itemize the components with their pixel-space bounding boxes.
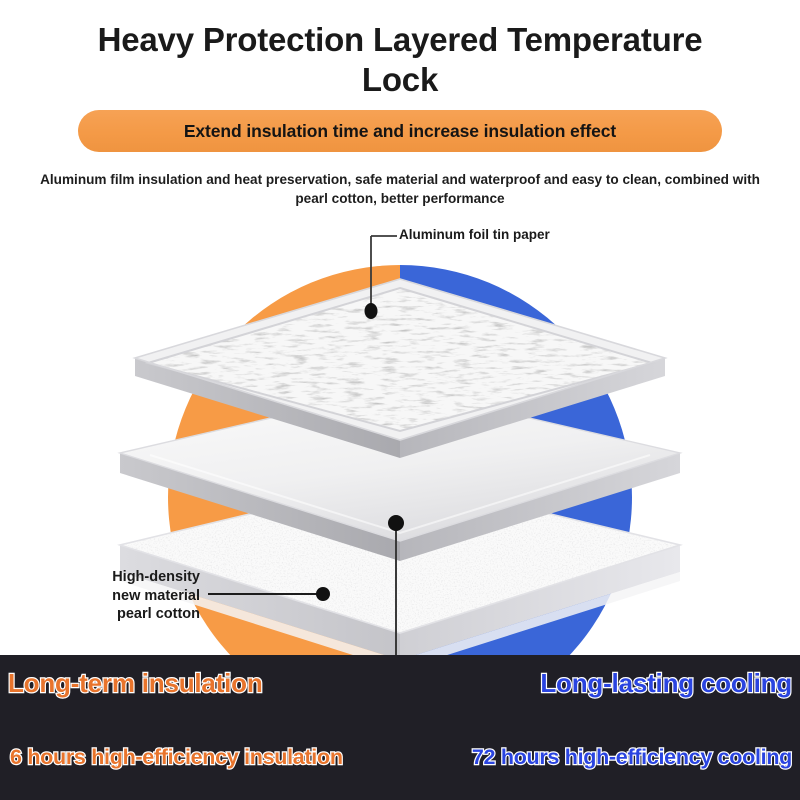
banner-subtext-insulation: 6 hours high-efficiency insulation [10, 745, 350, 770]
callout-label-pearl-cotton: High-density new material pearl cotton [35, 568, 200, 624]
banner-subtext-cooling: 72 hours high-efficiency cooling [452, 745, 792, 770]
product-infographic: Heavy Protection Layered Temperature Loc… [0, 0, 800, 800]
banner-heading-cooling: Long-lasting cooling [452, 669, 792, 697]
banner-column-cooling: Long-lasting cooling 72 hours high-effic… [452, 655, 792, 800]
callout-label-aluminum-foil: Aluminum foil tin paper [399, 227, 550, 242]
banner-heading-insulation: Long-term insulation [8, 669, 348, 697]
banner-column-insulation: Long-term insulation 6 hours high-effici… [8, 655, 348, 800]
bottom-banner: Long-term insulation 6 hours high-effici… [0, 655, 800, 800]
